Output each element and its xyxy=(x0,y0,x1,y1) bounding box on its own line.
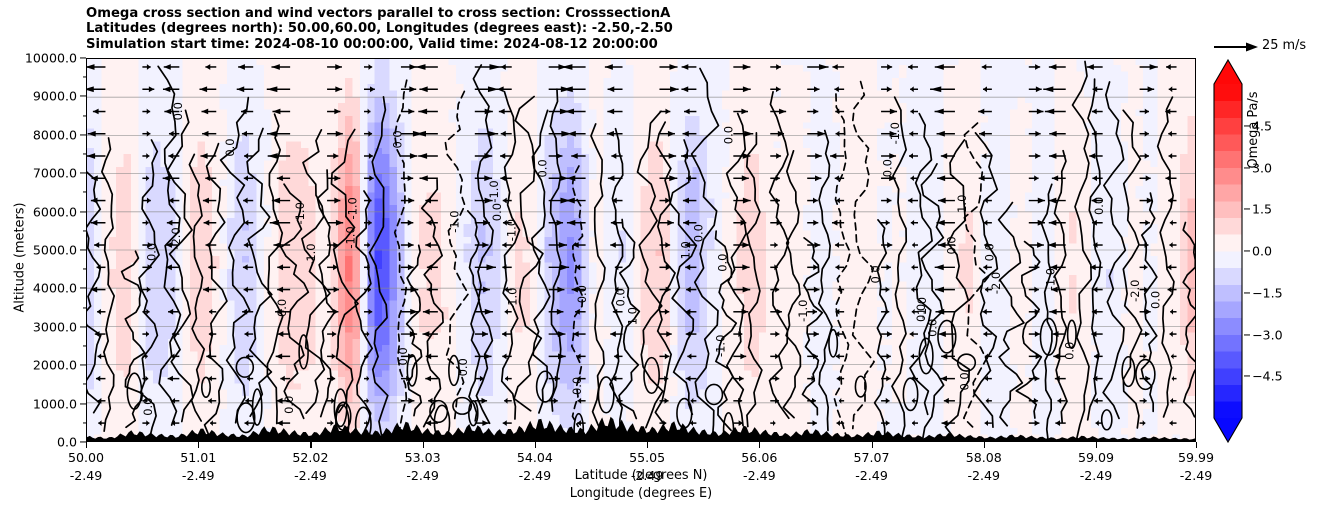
contour-label: -1.0 xyxy=(304,243,318,265)
quiver-key: 25 m/s xyxy=(1208,36,1320,58)
plot-area: 0.00.0-1.0-2.00.0-1.00.00.00.00.00.00.00… xyxy=(86,58,1196,442)
quiver-key-label: 25 m/s xyxy=(1262,38,1306,53)
colorbar-tick-label: −1.5 xyxy=(1252,285,1283,300)
contour-label: -1.0 xyxy=(487,180,501,202)
contour-label: -1.0 xyxy=(796,300,810,322)
colorbar-gradient xyxy=(1212,58,1248,444)
colorbar-tick-mark xyxy=(1244,334,1250,335)
x-tick-mark xyxy=(984,442,985,448)
x-tick-mark xyxy=(535,442,536,448)
title-line-1: Omega cross section and wind vectors par… xyxy=(86,6,1196,21)
contour-label: -1.0 xyxy=(345,197,359,219)
y-tick-label: 8000.0 xyxy=(33,127,77,142)
contour-label: 0.0 xyxy=(1148,291,1162,309)
contour-label: 0.0 xyxy=(869,265,883,283)
x-tick-label-latitude: 54.04 xyxy=(517,450,553,465)
contour-label: -1.0 xyxy=(344,226,358,248)
contour-label: 0.0 xyxy=(535,159,549,177)
y-tick-label: 7000.0 xyxy=(33,166,77,181)
contour-label: 0.0 xyxy=(1063,342,1077,360)
x-tick-label-latitude: 52.02 xyxy=(292,450,328,465)
contour-label: 0.0 xyxy=(282,396,296,414)
y-tick-label: 10000.0 xyxy=(25,51,77,66)
x-tick-mark xyxy=(1096,442,1097,448)
x-tick-mark xyxy=(759,442,760,448)
colorbar: 4.53.01.50.0−1.5−3.0−4.5 xyxy=(1212,58,1248,444)
y-tick-label: 6000.0 xyxy=(33,204,77,219)
colorbar-label: Omega Pa/s xyxy=(1246,10,1261,250)
chart-title-block: Omega cross section and wind vectors par… xyxy=(86,6,1196,52)
contour-label: -1.0 xyxy=(448,210,462,232)
x-tick-label-latitude: 59.09 xyxy=(1078,450,1114,465)
colorbar-tick-mark xyxy=(1244,376,1250,377)
colorbar-tick-label: −4.5 xyxy=(1252,369,1283,384)
x-tick-label-latitude: 50.00 xyxy=(68,450,104,465)
x-tick-label-latitude: 55.05 xyxy=(629,450,665,465)
y-tick-label: 1000.0 xyxy=(33,396,77,411)
contour-label: 0.0 xyxy=(716,254,730,272)
y-tick-label: 5000.0 xyxy=(33,243,77,258)
x-axis-label-latitude: Latitude (degrees N) xyxy=(86,468,1196,483)
colorbar-tick-mark xyxy=(1244,292,1250,293)
title-line-2: Latitudes (degrees north): 50.00,60.00, … xyxy=(86,21,1196,36)
contour-label: 1.0 xyxy=(625,307,639,325)
x-tick-mark xyxy=(86,442,87,448)
contour-label: 0.0 xyxy=(983,243,997,261)
contour-label: 0.0 xyxy=(957,372,971,390)
contour-label: 0.0 xyxy=(880,159,894,177)
x-tick-label-latitude: 53.03 xyxy=(405,450,441,465)
contour-label: 0.0 xyxy=(275,299,289,317)
x-tick-mark xyxy=(1196,442,1197,448)
cross-section-plot: 0.00.0-1.0-2.00.0-1.00.00.00.00.00.00.00… xyxy=(87,59,1195,441)
contour-label: -1.0 xyxy=(293,202,307,224)
colorbar-tick-label: −3.0 xyxy=(1252,327,1283,342)
x-tick-mark xyxy=(423,442,424,448)
contour-label: 0.0 xyxy=(614,288,628,306)
contour-label: -2.0 xyxy=(989,272,1003,294)
y-tick-label: 3000.0 xyxy=(33,319,77,334)
y-tick-label: 2000.0 xyxy=(33,358,77,373)
y-tick-label: 9000.0 xyxy=(33,89,77,104)
contour-label: 0.0 xyxy=(456,358,470,376)
contour-label: 0.0 xyxy=(223,138,237,156)
contour-label: 0.0 xyxy=(570,377,584,395)
contour-label: -1.0 xyxy=(713,335,727,357)
contour-label: 0.0 xyxy=(914,304,928,322)
x-tick-label-latitude: 58.08 xyxy=(966,450,1002,465)
x-tick-label-latitude: 57.07 xyxy=(854,450,890,465)
contour-label: 1.0 xyxy=(955,195,969,213)
x-tick-mark xyxy=(198,442,199,448)
x-tick-label-latitude: 56.06 xyxy=(741,450,777,465)
y-axis-label: Altitude (meters) xyxy=(13,88,28,428)
x-tick-mark xyxy=(647,442,648,448)
y-tick-label: 0.0 xyxy=(57,435,77,450)
y-tick-label: 4000.0 xyxy=(33,281,77,296)
x-tick-label-latitude: 51.01 xyxy=(180,450,216,465)
x-tick-mark xyxy=(310,442,311,448)
title-line-3: Simulation start time: 2024-08-10 00:00:… xyxy=(86,37,1196,52)
x-tick-label-latitude: 59.99 xyxy=(1178,450,1214,465)
colorbar-tick-mark xyxy=(1244,250,1250,251)
contour-label: -1.0 xyxy=(1044,268,1058,290)
x-axis-label-longitude: Longitude (degrees E) xyxy=(86,486,1196,501)
colorbar-extend-max xyxy=(1214,60,1242,84)
contour-label: 0.0 xyxy=(691,224,705,242)
contour-label: 1.0 xyxy=(679,241,693,259)
colorbar-extend-min xyxy=(1214,418,1242,442)
x-tick-mark xyxy=(872,442,873,448)
contour-label: 0.0 xyxy=(490,203,504,221)
contour-label: 0.0 xyxy=(722,126,736,144)
contour-label: -2.0 xyxy=(1128,280,1142,302)
